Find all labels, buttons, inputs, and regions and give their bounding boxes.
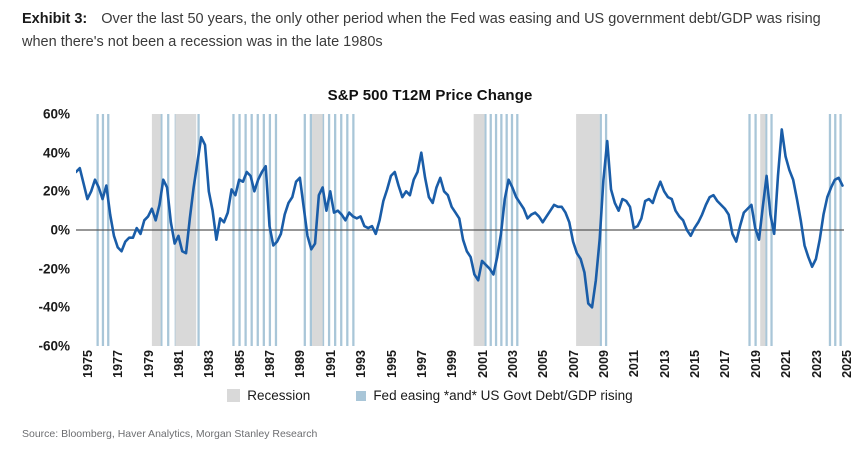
y-axis-tick: 0% [24,223,70,238]
x-axis-tick: 2003 [506,350,520,378]
legend-label-fed-easing: Fed easing *and* US Govt Debt/GDP rising [373,388,632,403]
x-axis-tick: 1989 [293,350,307,378]
x-axis-tick: 2025 [840,350,854,378]
recession-swatch-icon [227,389,240,402]
exhibit-header: Exhibit 3:Over the last 50 years, the on… [22,8,842,54]
x-axis-tick: 2011 [627,350,641,377]
x-axis-tick: 2009 [597,350,611,378]
x-axis-tick: 1977 [111,350,125,378]
x-axis-tick: 1993 [354,350,368,378]
x-axis-tick: 1991 [324,350,338,378]
y-axis: 60%40%20%0%-20%-40%-60% [24,114,70,346]
x-axis-tick: 1975 [81,350,95,378]
chart-title: S&P 500 T12M Price Change [0,87,860,104]
y-axis-tick: -60% [24,339,70,354]
line-chart-svg [76,114,844,346]
legend-item-fed-easing: Fed easing *and* US Govt Debt/GDP rising [356,388,632,403]
legend-label-recession: Recession [247,388,310,403]
source-note: Source: Bloomberg, Haver Analytics, Morg… [22,428,317,440]
x-axis-tick: 1983 [202,350,216,378]
x-axis-tick: 1987 [263,350,277,378]
x-axis-tick: 2015 [688,350,702,378]
x-axis-tick: 2001 [476,350,490,378]
y-axis-tick: 20% [24,184,70,199]
chart-legend: Recession Fed easing *and* US Govt Debt/… [0,388,860,403]
exhibit-label: Exhibit 3: [22,11,87,27]
x-axis-tick: 1995 [385,350,399,378]
y-axis-tick: 40% [24,145,70,160]
x-axis-tick: 1981 [172,350,186,378]
y-axis-tick: -20% [24,261,70,276]
x-axis-tick: 2005 [536,350,550,378]
legend-item-recession: Recession [227,388,310,403]
x-axis-tick: 2021 [779,350,793,378]
exhibit-caption: Over the last 50 years, the only other p… [22,11,821,50]
x-axis-tick: 2007 [567,350,581,378]
x-axis-tick: 2017 [718,350,732,378]
y-axis-tick: 60% [24,107,70,122]
x-axis-tick: 1979 [142,350,156,378]
plot-area [76,114,844,346]
y-axis-tick: -40% [24,300,70,315]
x-axis-tick: 2013 [658,350,672,378]
x-axis-tick: 2019 [749,350,763,378]
x-axis-tick: 2023 [810,350,824,378]
fed-easing-swatch-icon [356,391,366,401]
x-axis-tick: 1997 [415,350,429,378]
x-axis-tick: 1985 [233,350,247,378]
x-axis-tick: 1999 [445,350,459,378]
chart-container: S&P 500 T12M Price Change 60%40%20%0%-20… [0,62,860,407]
